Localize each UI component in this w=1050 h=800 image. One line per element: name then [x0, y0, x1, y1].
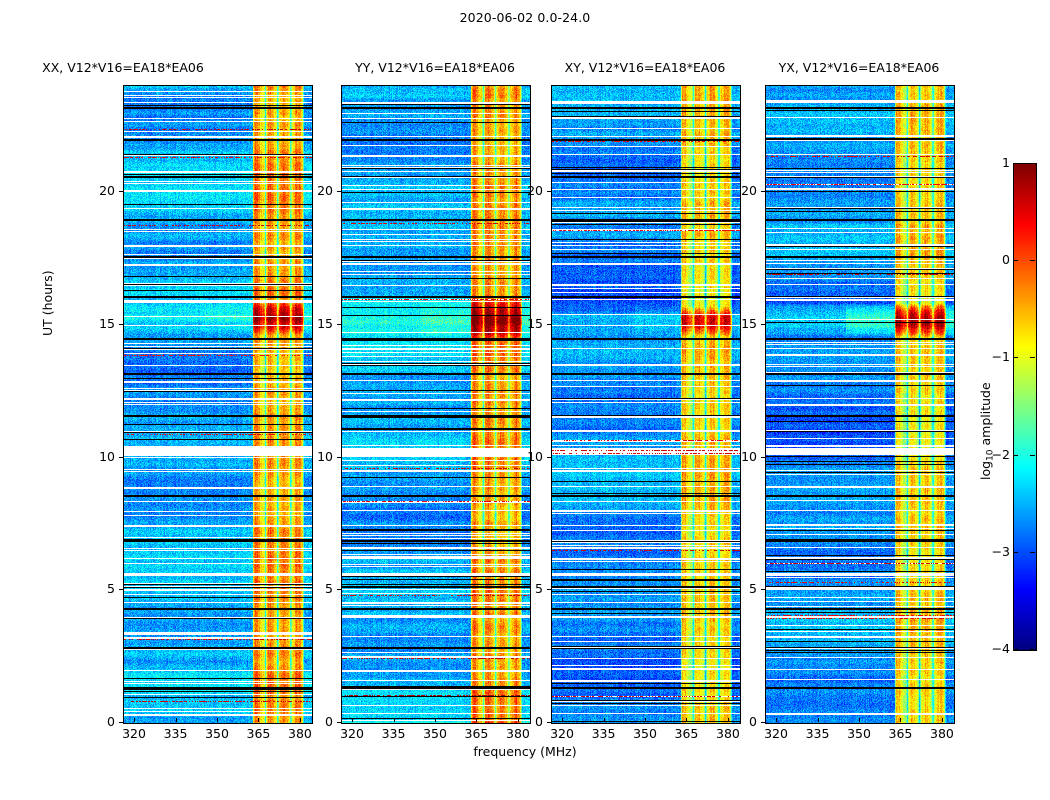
- x-tick-label-YX-350: 350: [839, 726, 879, 741]
- y-tick-label-XY-20: 20: [509, 183, 543, 198]
- colorbar-tick--1: [1030, 357, 1035, 358]
- colorbar-tick--2: [1013, 455, 1018, 456]
- x-tick-label-XX-320: 320: [114, 726, 154, 741]
- y-tick-XY-5: [547, 589, 551, 590]
- x-tick-label-XY-335: 335: [584, 726, 624, 741]
- colorbar-label-tail: amplitude: [978, 382, 993, 449]
- x-tick-YX-350: [859, 718, 860, 722]
- x-tick-label-YX-320: 320: [756, 726, 796, 741]
- x-tick-XX-335: [176, 718, 177, 722]
- figure-canvas: 2020-06-02 0.0-24.0 XX, V12*V16=EA18*EA0…: [0, 0, 1050, 800]
- x-tick-label-XX-365: 365: [238, 726, 278, 741]
- colorbar-tick--3: [1030, 552, 1035, 553]
- y-tick-label-YY-5: 5: [299, 581, 333, 596]
- y-tick-YY-5: [337, 589, 341, 590]
- colorbar[interactable]: [1013, 163, 1037, 651]
- colorbar-tick-0: [1030, 260, 1035, 261]
- y-tick-label-YY-20: 20: [299, 183, 333, 198]
- y-tick-XX-5: [119, 589, 123, 590]
- x-tick-label-YY-335: 335: [374, 726, 414, 741]
- heatmap-panel-YX[interactable]: [765, 85, 955, 724]
- y-tick-XX-0: [119, 722, 123, 723]
- x-axis-label: frequency (MHz): [0, 744, 1050, 759]
- x-tick-XX-365: [258, 718, 259, 722]
- y-tick-YY-0: [337, 722, 341, 723]
- colorbar-label-main: log: [978, 461, 993, 480]
- y-tick-label-YX-10: 10: [723, 449, 757, 464]
- colorbar-label-sub: 10: [985, 449, 995, 460]
- y-tick-YX-0: [761, 722, 765, 723]
- colorbar-tick--4: [1030, 649, 1035, 650]
- x-tick-label-YY-350: 350: [415, 726, 455, 741]
- colorbar-tick-label-0: 0: [984, 252, 1010, 267]
- x-tick-label-XX-335: 335: [156, 726, 196, 741]
- heatmap-panel-YY[interactable]: [341, 85, 531, 724]
- x-tick-label-XY-320: 320: [542, 726, 582, 741]
- y-tick-YX-15: [761, 324, 765, 325]
- y-tick-label-YX-20: 20: [723, 183, 757, 198]
- y-tick-XY-0: [547, 722, 551, 723]
- x-tick-label-YX-335: 335: [798, 726, 838, 741]
- panel-title-YX: YX, V12*V16=EA18*EA06: [729, 60, 989, 75]
- y-tick-XY-10: [547, 457, 551, 458]
- y-tick-YY-10: [337, 457, 341, 458]
- y-tick-YY-20: [337, 191, 341, 192]
- y-tick-label-YX-15: 15: [723, 316, 757, 331]
- x-tick-label-XX-350: 350: [197, 726, 237, 741]
- y-tick-label-XX-5: 5: [81, 581, 115, 596]
- x-tick-label-XY-350: 350: [625, 726, 665, 741]
- colorbar-tick-0: [1013, 260, 1018, 261]
- y-tick-YX-10: [761, 457, 765, 458]
- x-tick-label-YX-380: 380: [922, 726, 962, 741]
- x-tick-YX-335: [818, 718, 819, 722]
- y-tick-label-XX-0: 0: [81, 714, 115, 729]
- y-tick-XY-20: [547, 191, 551, 192]
- colorbar-tick--2: [1030, 455, 1035, 456]
- y-tick-YY-15: [337, 324, 341, 325]
- panel-title-XX: XX, V12*V16=EA18*EA06: [0, 60, 253, 75]
- x-tick-label-YY-320: 320: [332, 726, 372, 741]
- x-tick-XY-335: [604, 718, 605, 722]
- x-tick-XY-320: [562, 718, 563, 722]
- y-tick-label-XY-5: 5: [509, 581, 543, 596]
- y-tick-label-XX-15: 15: [81, 316, 115, 331]
- figure-suptitle: 2020-06-02 0.0-24.0: [0, 10, 1050, 25]
- y-tick-label-XY-15: 15: [509, 316, 543, 331]
- x-tick-label-XY-365: 365: [666, 726, 706, 741]
- x-tick-YX-365: [900, 718, 901, 722]
- colorbar-tick--1: [1013, 357, 1018, 358]
- x-tick-XY-350: [645, 718, 646, 722]
- y-axis-label: UT (hours): [40, 270, 55, 336]
- y-tick-label-YY-15: 15: [299, 316, 333, 331]
- colorbar-tick-1: [1030, 163, 1035, 164]
- x-tick-YY-320: [352, 718, 353, 722]
- y-tick-label-XY-0: 0: [509, 714, 543, 729]
- colorbar-tick-label--1: −1: [984, 349, 1010, 364]
- x-tick-label-YX-365: 365: [880, 726, 920, 741]
- y-tick-XX-15: [119, 324, 123, 325]
- x-tick-YY-335: [394, 718, 395, 722]
- x-tick-XX-320: [134, 718, 135, 722]
- x-tick-YX-380: [942, 718, 943, 722]
- colorbar-tick--3: [1013, 552, 1018, 553]
- y-tick-label-XX-20: 20: [81, 183, 115, 198]
- x-tick-YY-365: [476, 718, 477, 722]
- x-tick-YY-350: [435, 718, 436, 722]
- y-tick-XX-20: [119, 191, 123, 192]
- colorbar-tick-label--4: −4: [984, 641, 1010, 656]
- x-tick-XY-365: [686, 718, 687, 722]
- y-tick-label-XX-10: 10: [81, 449, 115, 464]
- y-tick-YX-20: [761, 191, 765, 192]
- x-tick-XX-350: [217, 718, 218, 722]
- colorbar-tick-label--3: −3: [984, 544, 1010, 559]
- heatmap-panel-XX[interactable]: [123, 85, 313, 724]
- y-tick-YX-5: [761, 589, 765, 590]
- y-tick-label-YY-0: 0: [299, 714, 333, 729]
- y-tick-label-YX-0: 0: [723, 714, 757, 729]
- y-tick-label-YX-5: 5: [723, 581, 757, 596]
- x-tick-label-YY-365: 365: [456, 726, 496, 741]
- y-tick-label-XY-10: 10: [509, 449, 543, 464]
- y-tick-XY-15: [547, 324, 551, 325]
- y-tick-XX-10: [119, 457, 123, 458]
- colorbar-tick--4: [1013, 649, 1018, 650]
- colorbar-label: log10 amplitude: [978, 382, 995, 480]
- x-tick-YX-320: [776, 718, 777, 722]
- y-tick-label-YY-10: 10: [299, 449, 333, 464]
- colorbar-tick-1: [1013, 163, 1018, 164]
- heatmap-panel-XY[interactable]: [551, 85, 741, 724]
- colorbar-tick-label-1: 1: [984, 155, 1010, 170]
